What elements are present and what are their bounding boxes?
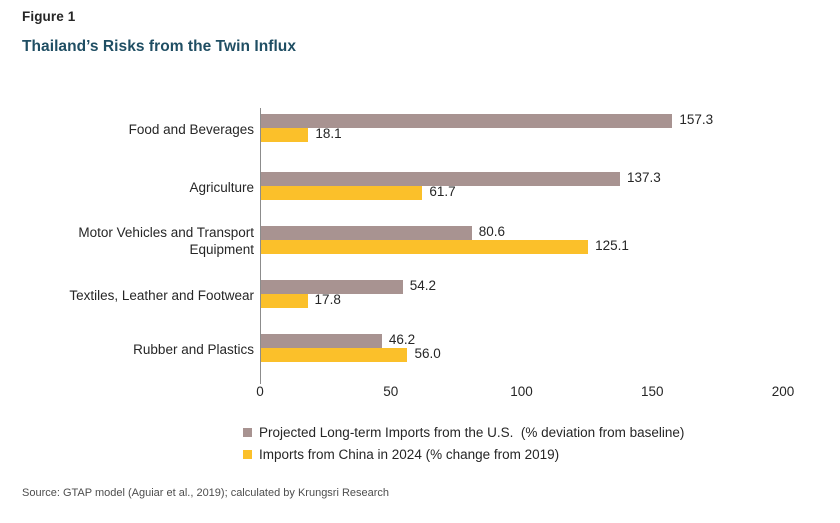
legend-swatch bbox=[243, 428, 252, 437]
bar-fill bbox=[261, 128, 308, 142]
bar-value-label: 125.1 bbox=[595, 238, 629, 253]
source-note: Source: GTAP model (Aguiar et al., 2019)… bbox=[22, 487, 389, 499]
chart-plot-area: Figure 1 Thailand’s Risks from the Twin … bbox=[0, 0, 840, 523]
category-label: Agriculture bbox=[22, 179, 254, 196]
bar-fill bbox=[261, 186, 422, 200]
bar-value-label: 17.8 bbox=[315, 292, 341, 307]
bar-value-label: 157.3 bbox=[679, 112, 713, 127]
x-axis-tick-labels: 050100150200 bbox=[0, 384, 840, 402]
x-tick-label: 150 bbox=[641, 384, 664, 399]
bar-value-label: 61.7 bbox=[429, 184, 455, 199]
bar-value-label: 80.6 bbox=[479, 224, 505, 239]
bar-fill bbox=[261, 348, 407, 362]
legend-label: Imports from China in 2024 (% change fro… bbox=[259, 447, 559, 462]
figure-label: Figure 1 bbox=[22, 9, 75, 24]
category-label: Motor Vehicles and Transport Equipment bbox=[22, 224, 254, 258]
legend-item[interactable]: Projected Long-term Imports from the U.S… bbox=[243, 421, 684, 443]
x-tick-label: 200 bbox=[772, 384, 795, 399]
category-label: Food and Beverages bbox=[22, 121, 254, 138]
category-label: Textiles, Leather and Footwear bbox=[22, 287, 254, 304]
x-tick-label: 0 bbox=[256, 384, 264, 399]
legend-swatch bbox=[243, 450, 252, 459]
x-tick-label: 100 bbox=[510, 384, 533, 399]
bar-fill bbox=[261, 240, 588, 254]
bar-value-label: 46.2 bbox=[389, 332, 415, 347]
chart-title: Thailand’s Risks from the Twin Influx bbox=[22, 38, 296, 56]
bar-value-label: 56.0 bbox=[414, 346, 440, 361]
chart-legend: Projected Long-term Imports from the U.S… bbox=[243, 421, 684, 465]
bar-fill bbox=[261, 294, 308, 308]
legend-item[interactable]: Imports from China in 2024 (% change fro… bbox=[243, 443, 684, 465]
bar-fill bbox=[261, 334, 382, 348]
x-tick-label: 50 bbox=[383, 384, 398, 399]
bar-value-label: 18.1 bbox=[315, 126, 341, 141]
bar-value-label: 137.3 bbox=[627, 170, 661, 185]
category-label: Rubber and Plastics bbox=[22, 341, 254, 358]
bar-value-label: 54.2 bbox=[410, 278, 436, 293]
legend-label: Projected Long-term Imports from the U.S… bbox=[259, 425, 684, 440]
bar-fill bbox=[261, 226, 472, 240]
